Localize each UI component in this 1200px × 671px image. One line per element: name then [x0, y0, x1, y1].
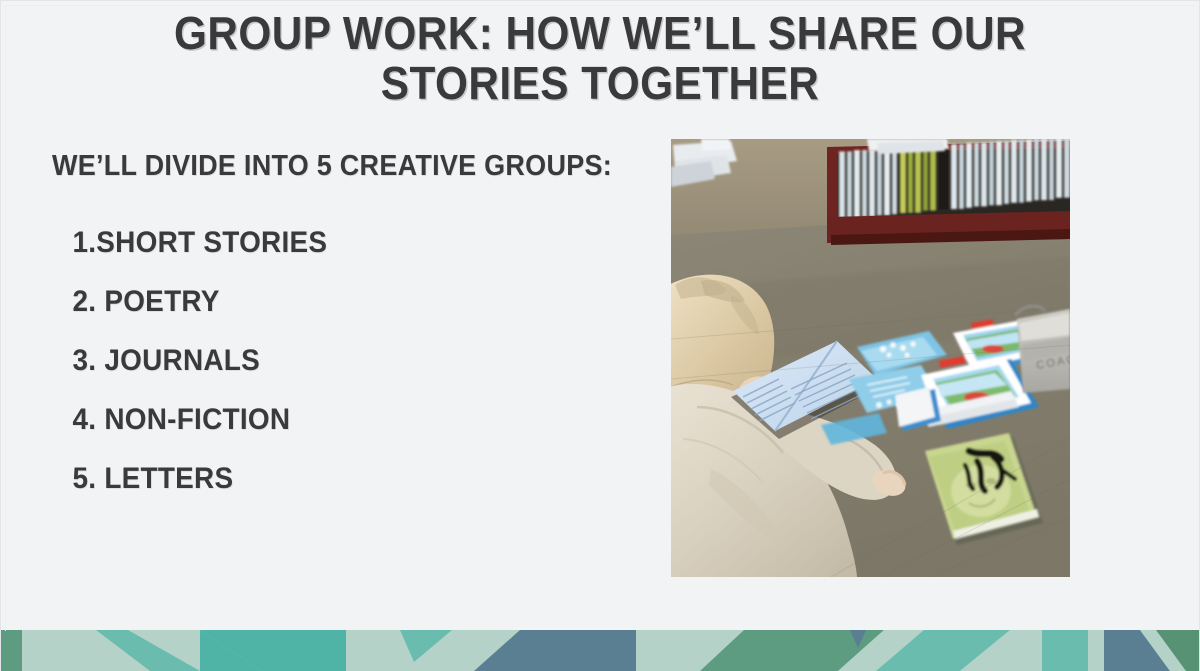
presentation-slide: GROUP WORK: HOW WE’LL SHARE OUR STORIES …	[0, 0, 1200, 671]
slide-body-column: WE’LL DIVIDE INTO 5 CREATIVE GROUPS: 1.S…	[52, 150, 652, 496]
list-item-group-4: 4. NON-FICTION	[52, 403, 610, 437]
creative-groups-list: 1.SHORT STORIES 2. POETRY 3. JOURNALS 4.…	[52, 226, 652, 496]
footer-decorative-band	[0, 630, 1200, 671]
slide-title: GROUP WORK: HOW WE’LL SHARE OUR STORIES …	[48, 8, 1152, 108]
lead-line: WE’LL DIVIDE INTO 5 CREATIVE GROUPS:	[52, 150, 610, 182]
list-item-group-3: 3. JOURNALS	[52, 344, 610, 378]
list-item-group-5: 5. LETTERS	[52, 462, 610, 496]
list-item-group-2: 2. POETRY	[52, 285, 610, 319]
list-item-group-1: 1.SHORT STORIES	[52, 226, 610, 260]
slide-photo: COACH	[671, 139, 1070, 577]
